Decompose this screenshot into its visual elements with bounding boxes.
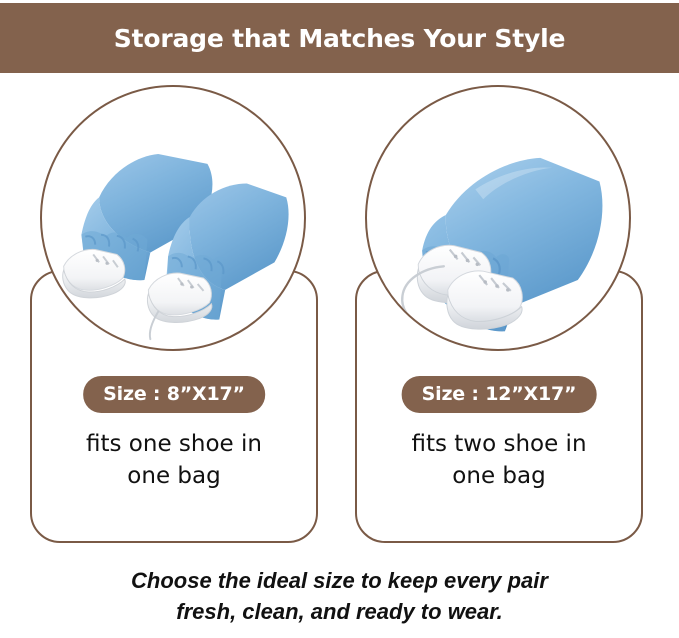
card-description-small: fits one shoe in one bag <box>30 428 318 492</box>
description-line-2: one bag <box>30 460 318 492</box>
product-photo-large <box>365 85 631 351</box>
size-badge-large: Size : 12”X17” <box>402 376 597 413</box>
product-card-small: Size : 8”X17” fits one shoe in one bag <box>30 78 318 548</box>
header-banner: Storage that Matches Your Style <box>0 3 679 73</box>
large-bag-illustration <box>367 87 629 349</box>
small-bags-illustration <box>42 87 304 349</box>
cards-row: Size : 8”X17” fits one shoe in one bag <box>0 78 679 548</box>
page-title: Storage that Matches Your Style <box>114 24 565 53</box>
footer-line-2: fresh, clean, and ready to wear. <box>0 596 679 627</box>
size-badge-small: Size : 8”X17” <box>83 376 265 413</box>
footer-line-1: Choose the ideal size to keep every pair <box>0 565 679 596</box>
description-line-1: fits two shoe in <box>355 428 643 460</box>
description-line-1: fits one shoe in <box>30 428 318 460</box>
product-card-large: Size : 12”X17” fits two shoe in one bag <box>355 78 643 548</box>
card-description-large: fits two shoe in one bag <box>355 428 643 492</box>
product-photo-small <box>40 85 306 351</box>
footer-caption: Choose the ideal size to keep every pair… <box>0 565 679 627</box>
description-line-2: one bag <box>355 460 643 492</box>
infographic-page: Storage that Matches Your Style <box>0 0 679 638</box>
